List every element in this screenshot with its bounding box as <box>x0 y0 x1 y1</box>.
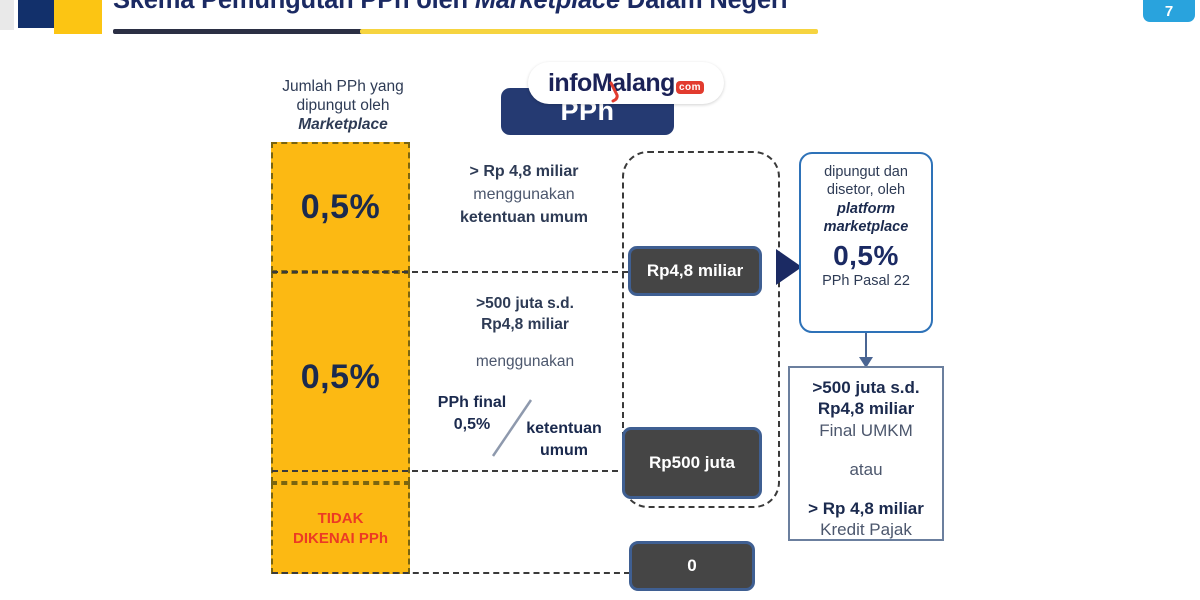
treatment-spacer-2 <box>790 480 942 498</box>
exempt-line-1: TIDAK <box>318 510 364 527</box>
treatment-line-1: >500 juta s.d. <box>790 377 942 398</box>
yellow-segment-top: 0,5% <box>271 142 410 272</box>
value-box-rp48miliar: Rp4,8 miliar <box>628 246 762 296</box>
ketentuan-line1: ketentuan <box>526 420 602 437</box>
collection-line-1: dipungut dan <box>801 163 931 181</box>
watermark-com-badge: com <box>676 81 704 94</box>
yellow-segment-bottom-label: TIDAK DIKENAI PPh <box>293 509 388 548</box>
page-title: Skema Pemungutan PPh oleh Marketplace Da… <box>113 0 1013 20</box>
treatment-line-5: > Rp 4,8 miliar <box>790 498 942 519</box>
middle-text-block-upper: > Rp 4,8 miliar menggunakan ketentuan um… <box>424 160 624 230</box>
page-title-italic: Marketplace <box>475 0 620 14</box>
collection-rate: 0,5% <box>801 240 931 272</box>
value-box-zero: 0 <box>629 541 755 591</box>
header-left-gray-bar <box>0 0 14 30</box>
header-rule-yellow <box>360 29 818 34</box>
middle-text-block-lower: >500 juta s.d. Rp4,8 miliar menggunakan <box>430 294 620 373</box>
collection-platform-label: platform <box>801 200 931 218</box>
tax-treatment-box: >500 juta s.d. Rp4,8 miliar Final UMKM a… <box>788 366 944 541</box>
treatment-spacer <box>790 441 942 459</box>
collection-article-note: PPh Pasal 22 <box>801 273 931 289</box>
page-title-part1: Skema Pemungutan PPh oleh <box>113 0 475 14</box>
collection-marketplace-label: marketplace <box>801 218 931 236</box>
header-yellow-square-decoration <box>54 0 102 34</box>
caption-line-2: dipungut oleh <box>296 97 389 114</box>
ketentuan-umum-label: ketentuan umum <box>505 418 623 461</box>
lower-using-label: menggunakan <box>430 352 620 373</box>
lower-threshold-line2: Rp4,8 miliar <box>430 315 620 336</box>
upper-using-label: menggunakan <box>473 186 574 203</box>
ketentuan-line2: umum <box>540 442 588 459</box>
yellow-segment-middle: 0,5% <box>271 272 410 483</box>
upper-rule-label: ketentuan umum <box>460 209 588 226</box>
watermark-malang: Malang <box>592 69 675 97</box>
collection-remittance-box: dipungut dan disetor, oleh platform mark… <box>799 152 933 333</box>
infomalang-watermark: infoMalangcom <box>528 62 724 104</box>
treatment-line-3: Final UMKM <box>790 420 942 441</box>
left-column-caption: Jumlah PPh yang dipungut oleh Marketplac… <box>262 78 424 135</box>
exempt-line-2: DIKENAI PPh <box>293 530 388 547</box>
header-rule-dark <box>113 29 363 34</box>
caption-line-1: Jumlah PPh yang <box>282 78 404 95</box>
yellow-segment-bottom: TIDAK DIKENAI PPh <box>271 483 410 574</box>
watermark-text: infoMalangcom <box>548 69 704 98</box>
lower-threshold-line1: >500 juta s.d. <box>430 294 620 315</box>
treatment-line-4: atau <box>790 459 942 480</box>
connector-line-bottom <box>272 572 630 574</box>
upper-threshold-label: > Rp 4,8 miliar <box>470 163 579 180</box>
treatment-line-2: Rp4,8 miliar <box>790 398 942 419</box>
page-title-part2: Dalam Negeri <box>620 0 787 14</box>
collection-line-2: disetor, oleh <box>801 181 931 199</box>
watermark-info: info <box>548 69 592 97</box>
connector-line-top <box>272 271 638 273</box>
pph-final-line2: 0,5% <box>454 416 490 433</box>
watermark-hook-icon <box>608 81 622 103</box>
yellow-segment-middle-rate: 0,5% <box>301 358 381 397</box>
slide-number-badge: 7 <box>1143 0 1195 22</box>
caption-line-3: Marketplace <box>298 116 388 133</box>
slide-canvas: Skema Pemungutan PPh oleh Marketplace Da… <box>0 0 1200 600</box>
value-box-rp500juta: Rp500 juta <box>622 427 762 499</box>
treatment-line-6: Kredit Pajak <box>790 519 942 540</box>
yellow-rate-column: 0,5% 0,5% TIDAK DIKENAI PPh <box>271 142 410 574</box>
connector-line-middle <box>272 470 638 472</box>
yellow-segment-top-rate: 0,5% <box>301 188 381 227</box>
